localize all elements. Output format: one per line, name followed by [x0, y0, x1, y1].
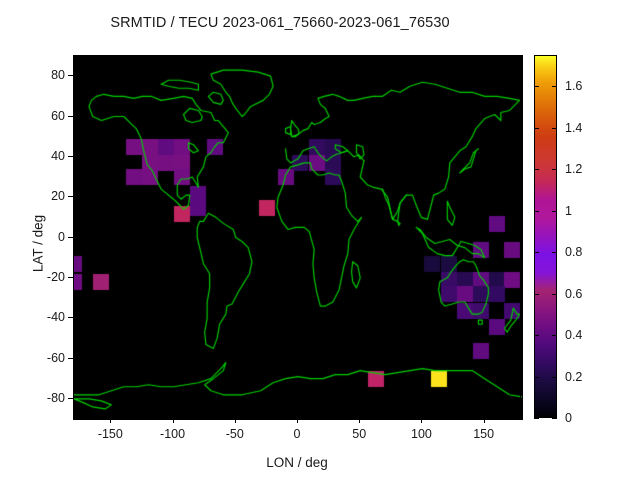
- colorbar-tick-label: 1: [565, 204, 572, 218]
- y-tick-mark: [68, 116, 73, 117]
- x-tick-label: 0: [294, 427, 301, 441]
- colorbar-tick-label: 0.8: [565, 245, 582, 259]
- x-tick-mark: [173, 418, 174, 423]
- x-tick-mark: [110, 418, 111, 423]
- x-tick-label: 150: [473, 427, 494, 441]
- y-tick-mark: [68, 156, 73, 157]
- x-tick-label: -50: [226, 427, 244, 441]
- x-tick-mark: [297, 418, 298, 423]
- colorbar-tick-mark: [534, 86, 539, 87]
- colorbar-tick-mark: [552, 86, 557, 87]
- colorbar-tick-mark: [534, 418, 539, 419]
- colorbar-tick-mark: [552, 335, 557, 336]
- colorbar-gradient: [535, 56, 556, 417]
- y-tick-label: 80: [25, 68, 65, 82]
- colorbar-tick-mark: [552, 252, 557, 253]
- x-tick-label: -150: [98, 427, 123, 441]
- colorbar-tick-mark: [552, 377, 557, 378]
- y-tick-mark: [68, 358, 73, 359]
- colorbar-tick-label: 1.6: [565, 79, 582, 93]
- colorbar-tick-mark: [552, 211, 557, 212]
- colorbar-tick-label: 0.4: [565, 328, 582, 342]
- y-tick-label: 40: [25, 149, 65, 163]
- x-tick-label: 50: [352, 427, 366, 441]
- y-tick-mark: [68, 277, 73, 278]
- y-tick-mark: [68, 398, 73, 399]
- y-tick-mark: [68, 196, 73, 197]
- colorbar-tick-mark: [552, 128, 557, 129]
- colorbar-tick-label: 0: [565, 411, 572, 425]
- y-tick-mark: [68, 237, 73, 238]
- colorbar-tick-mark: [534, 128, 539, 129]
- map-heatmap-canvas: [74, 56, 522, 419]
- colorbar-tick-mark: [552, 169, 557, 170]
- y-tick-label: -60: [25, 351, 65, 365]
- y-axis-title: LAT / deg: [31, 184, 46, 304]
- x-axis-title: LON / deg: [73, 455, 521, 470]
- y-tick-label: 60: [25, 109, 65, 123]
- colorbar-tick-mark: [534, 252, 539, 253]
- colorbar-tick-mark: [534, 169, 539, 170]
- colorbar-tick-mark: [534, 211, 539, 212]
- y-tick-label: -80: [25, 391, 65, 405]
- x-tick-mark: [484, 418, 485, 423]
- colorbar-tick-mark: [534, 294, 539, 295]
- colorbar-tick-mark: [552, 294, 557, 295]
- x-tick-label: -100: [160, 427, 185, 441]
- heatmap-plot-area: [73, 55, 523, 420]
- chart-figure: SRMTID / TECU 2023-061_75660-2023-061_76…: [0, 0, 640, 480]
- colorbar-tick-label: 1.4: [565, 121, 582, 135]
- y-tick-mark: [68, 75, 73, 76]
- y-tick-label: -40: [25, 310, 65, 324]
- colorbar: [534, 55, 557, 418]
- colorbar-tick-mark: [552, 418, 557, 419]
- x-tick-mark: [421, 418, 422, 423]
- colorbar-tick-label: 0.6: [565, 287, 582, 301]
- chart-title: SRMTID / TECU 2023-061_75660-2023-061_76…: [0, 15, 560, 31]
- x-tick-mark: [235, 418, 236, 423]
- colorbar-tick-mark: [534, 377, 539, 378]
- x-tick-label: 100: [411, 427, 432, 441]
- x-tick-mark: [359, 418, 360, 423]
- colorbar-tick-label: 1.2: [565, 162, 582, 176]
- colorbar-tick-mark: [534, 335, 539, 336]
- colorbar-tick-label: 0.2: [565, 370, 582, 384]
- y-tick-mark: [68, 317, 73, 318]
